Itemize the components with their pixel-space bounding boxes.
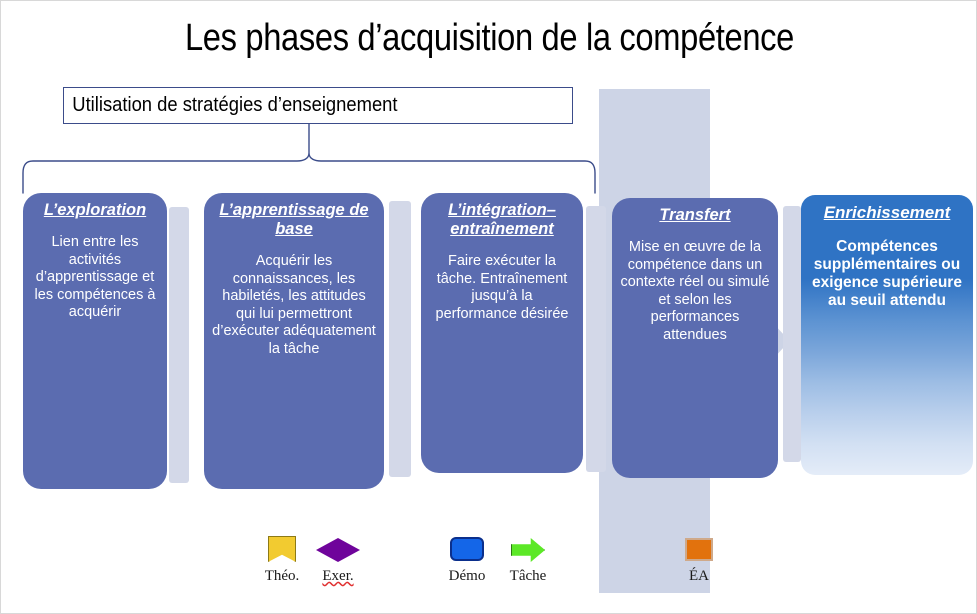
phase-card-apprentissage-de-base[interactable]: L’apprentissage de base Acquérir les con… (204, 193, 384, 489)
legend-item-ea: ÉA (679, 534, 719, 585)
blue-rounded-rect-swatch-icon (441, 534, 493, 566)
purple-diamond-swatch-icon (307, 534, 369, 566)
slide-canvas: Les phases d’acquisition de la compétenc… (0, 0, 977, 614)
phase-card-transfert[interactable]: Transfert Mise en œuvre de la compétence… (612, 198, 778, 478)
phase-body: Acquérir les connaissances, les habileté… (212, 253, 376, 358)
legend-label: Tâche (499, 568, 557, 585)
yellow-pentagon-swatch-icon (257, 534, 307, 566)
legend-item-tache: Tâche (499, 534, 557, 585)
phase-heading: Transfert (620, 206, 770, 225)
phase-heading: L’intégration–entraînement (429, 201, 575, 239)
green-arrow-swatch-icon (499, 534, 557, 566)
phase-body: Mise en œuvre de la compétence dans un c… (620, 239, 770, 344)
page-title: Les phases d’acquisition de la compétenc… (69, 17, 909, 60)
phase-body: Compétences supplémentaires ou exigence … (809, 238, 965, 310)
grouping-brace (15, 123, 605, 195)
phase-card-enrichissement[interactable]: Enrichissement Compétences supplémentair… (801, 195, 973, 475)
phase-card-exploration[interactable]: L’exploration Lien entre les activités d… (23, 193, 167, 489)
phase-heading: L’apprentissage de base (212, 201, 376, 239)
legend-label: Théo. (257, 568, 307, 585)
legend-item-demo: Démo (441, 534, 493, 585)
card-shadow-bar (783, 206, 801, 462)
legend-item-exer: Exer. (307, 534, 369, 585)
phase-body: Faire exécuter la tâche. Entraînement ju… (429, 253, 575, 323)
strategy-header-box: Utilisation de stratégies d’enseignement (63, 87, 573, 124)
strategy-header-label: Utilisation de stratégies d’enseignement (64, 94, 398, 117)
phase-card-integration-entrainement[interactable]: L’intégration–entraînement Faire exécute… (421, 193, 583, 473)
legend-item-theo: Théo. (257, 534, 307, 585)
legend-label: Démo (441, 568, 493, 585)
phase-body: Lien entre les activités d’apprentissage… (31, 234, 159, 322)
card-shadow-bar (389, 201, 411, 477)
card-shadow-bar (586, 206, 606, 472)
phase-heading: L’exploration (31, 201, 159, 220)
phase-heading: Enrichissement (809, 203, 965, 222)
card-shadow-bar (169, 207, 189, 483)
legend-label: Exer. (307, 568, 369, 585)
legend-label: ÉA (679, 568, 719, 585)
orange-square-swatch-icon (679, 534, 719, 566)
